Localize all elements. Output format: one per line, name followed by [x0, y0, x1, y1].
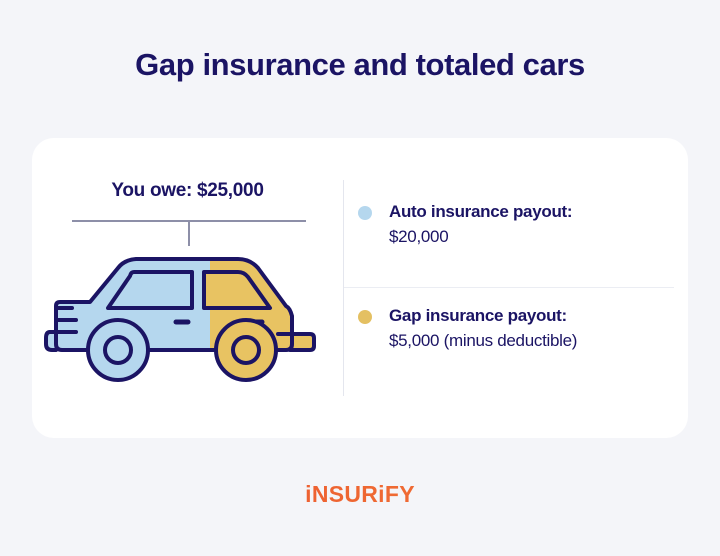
bracket-tick [188, 222, 190, 246]
amount-owed-label: You owe: $25,000 [32, 180, 343, 202]
insurify-logo: iNSURiFY [0, 481, 720, 508]
legend-value-gap: $5,000 (minus deductible) [389, 329, 577, 354]
legend-panel: Auto insurance payout: $20,000 Gap insur… [344, 138, 688, 438]
legend-heading-auto: Auto insurance payout: [389, 200, 572, 225]
legend-text-auto: Auto insurance payout: $20,000 [389, 200, 572, 249]
legend-dot-gap-icon [358, 310, 372, 324]
legend-text-gap: Gap insurance payout: $5,000 (minus dedu… [389, 304, 577, 353]
owe-panel: You owe: $25,000 [32, 138, 343, 438]
totaled-car-illustration [42, 246, 334, 396]
legend-heading-gap: Gap insurance payout: [389, 304, 577, 329]
page-title: Gap insurance and totaled cars [0, 46, 720, 83]
legend-item-auto-insurance: Auto insurance payout: $20,000 [358, 200, 678, 249]
info-card: You owe: $25,000 [32, 138, 688, 438]
legend-value-auto: $20,000 [389, 225, 572, 250]
legend-divider [344, 287, 674, 288]
legend-dot-auto-icon [358, 206, 372, 220]
legend-item-gap-insurance: Gap insurance payout: $5,000 (minus dedu… [358, 304, 678, 353]
